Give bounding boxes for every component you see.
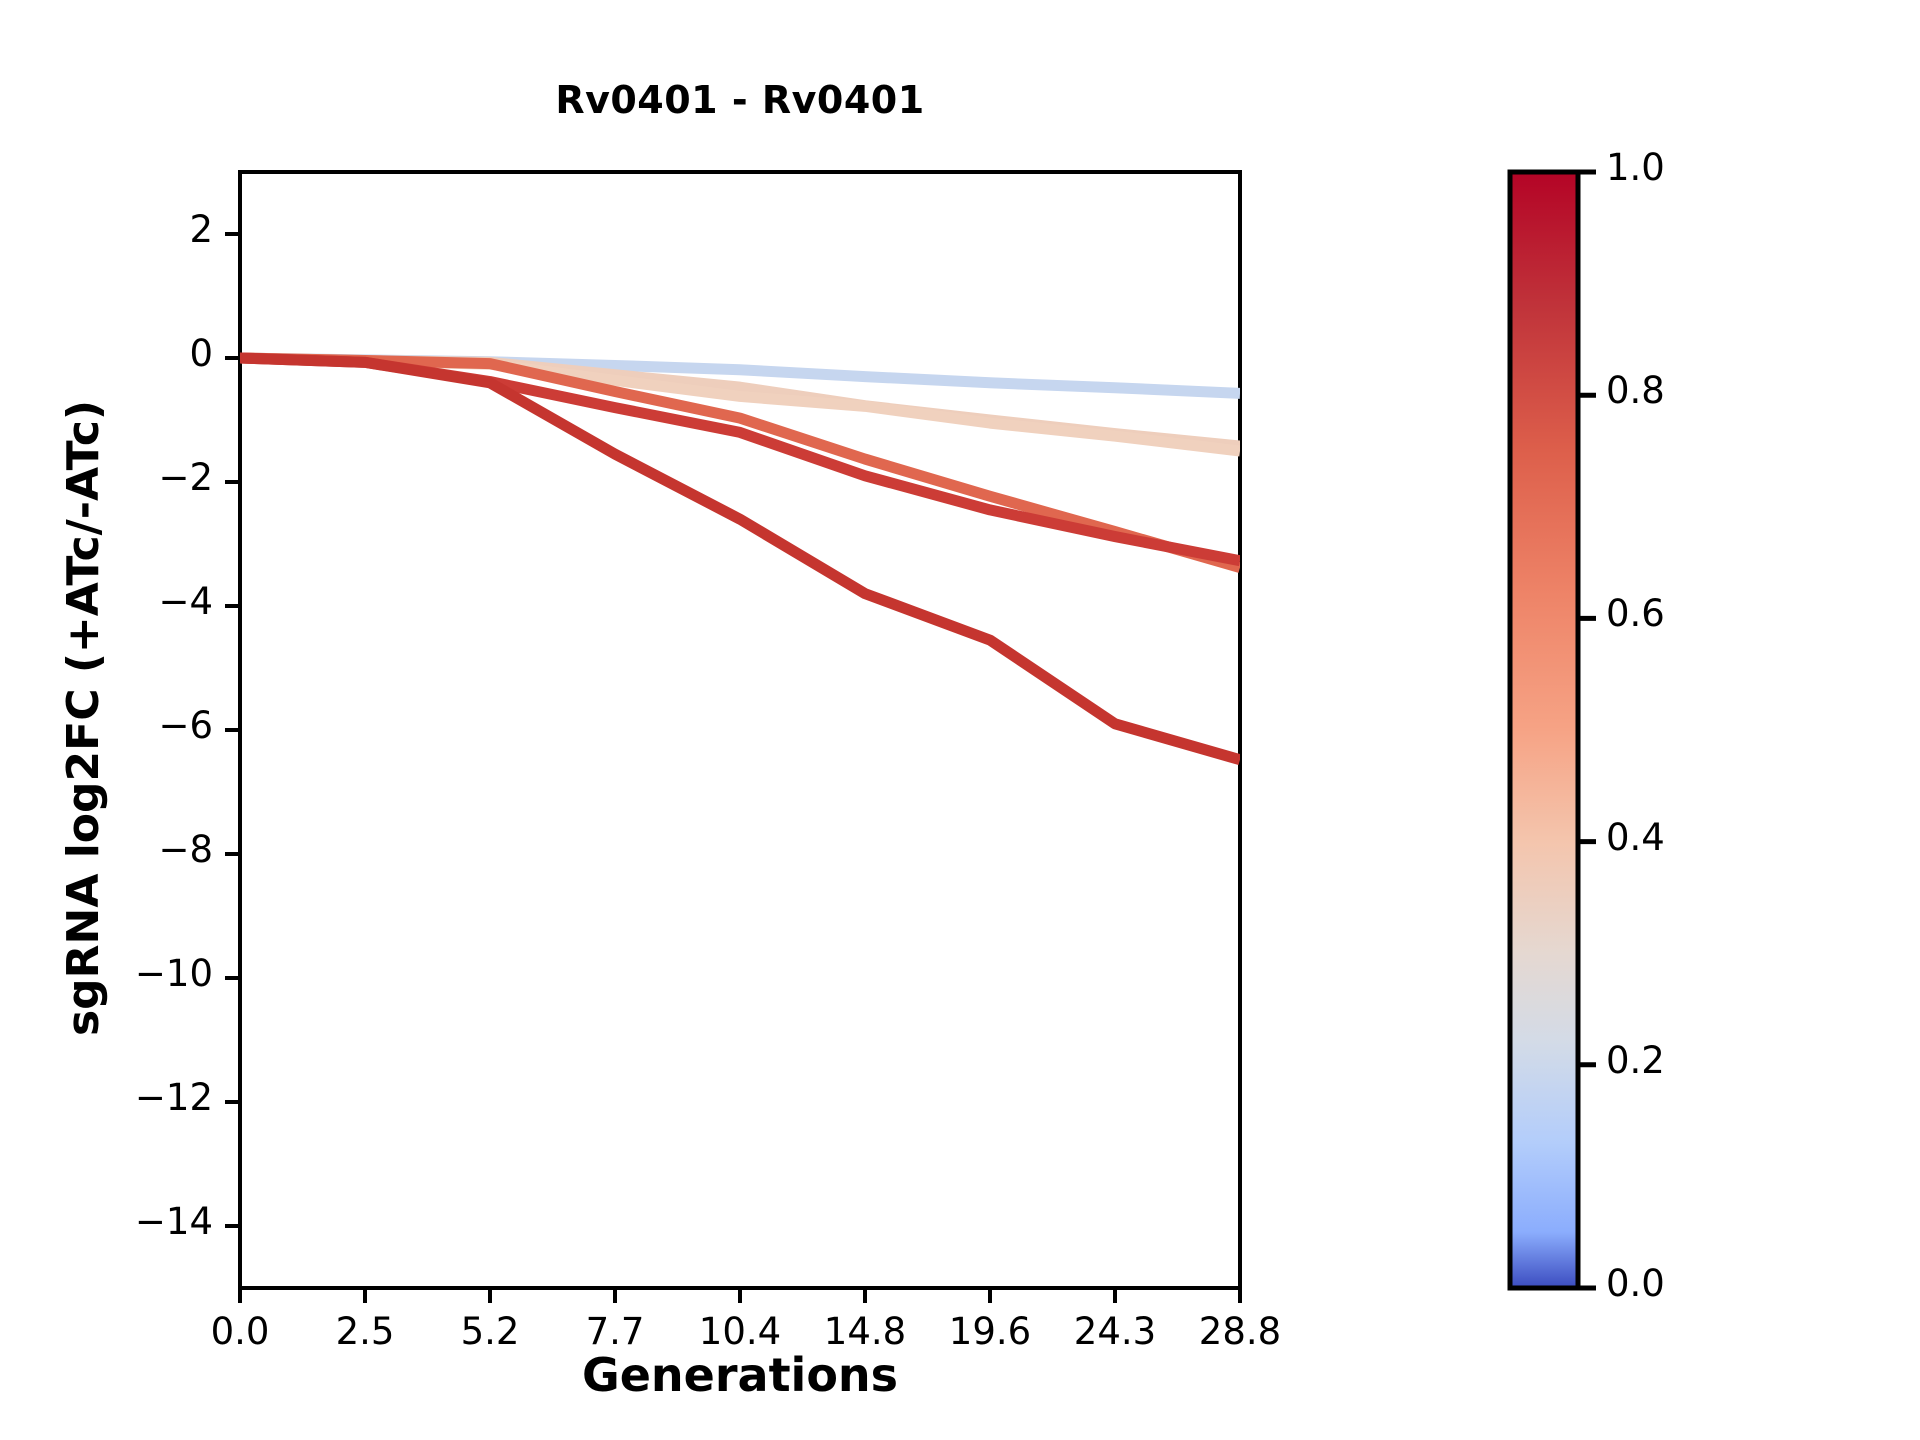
- colorbar[interactable]: [1510, 172, 1578, 1288]
- y-tick-label: −10: [0, 952, 213, 995]
- y-tick-label: 2: [0, 208, 213, 251]
- x-tick-label: 28.8: [1150, 1310, 1330, 1353]
- colorbar-tick-label: 0.0: [1606, 1262, 1665, 1305]
- plot-frame: [240, 172, 1240, 1288]
- figure-canvas: Rv0401 - Rv0401 sgRNA log2FC (+ATc/-ATc)…: [0, 0, 1920, 1440]
- y-tick-label: −14: [0, 1200, 213, 1243]
- y-tick-label: −2: [0, 456, 213, 499]
- x-axis-ticks: [240, 1288, 1240, 1303]
- y-tick-label: −6: [0, 704, 213, 747]
- colorbar-tick-label: 0.4: [1606, 816, 1665, 859]
- colorbar-ticks: [1578, 172, 1596, 1288]
- colorbar-tick-label: 0.6: [1606, 592, 1665, 635]
- y-tick-label: 0: [0, 332, 213, 375]
- y-tick-label: −8: [0, 828, 213, 871]
- y-tick-label: −4: [0, 580, 213, 623]
- colorbar-tick-label: 0.8: [1606, 369, 1665, 412]
- y-tick-label: −12: [0, 1076, 213, 1119]
- plot-svg: [0, 0, 1920, 1440]
- colorbar-tick-label: 0.2: [1606, 1039, 1665, 1082]
- y-axis-ticks: [225, 234, 240, 1226]
- colorbar-tick-label: 1.0: [1606, 146, 1665, 189]
